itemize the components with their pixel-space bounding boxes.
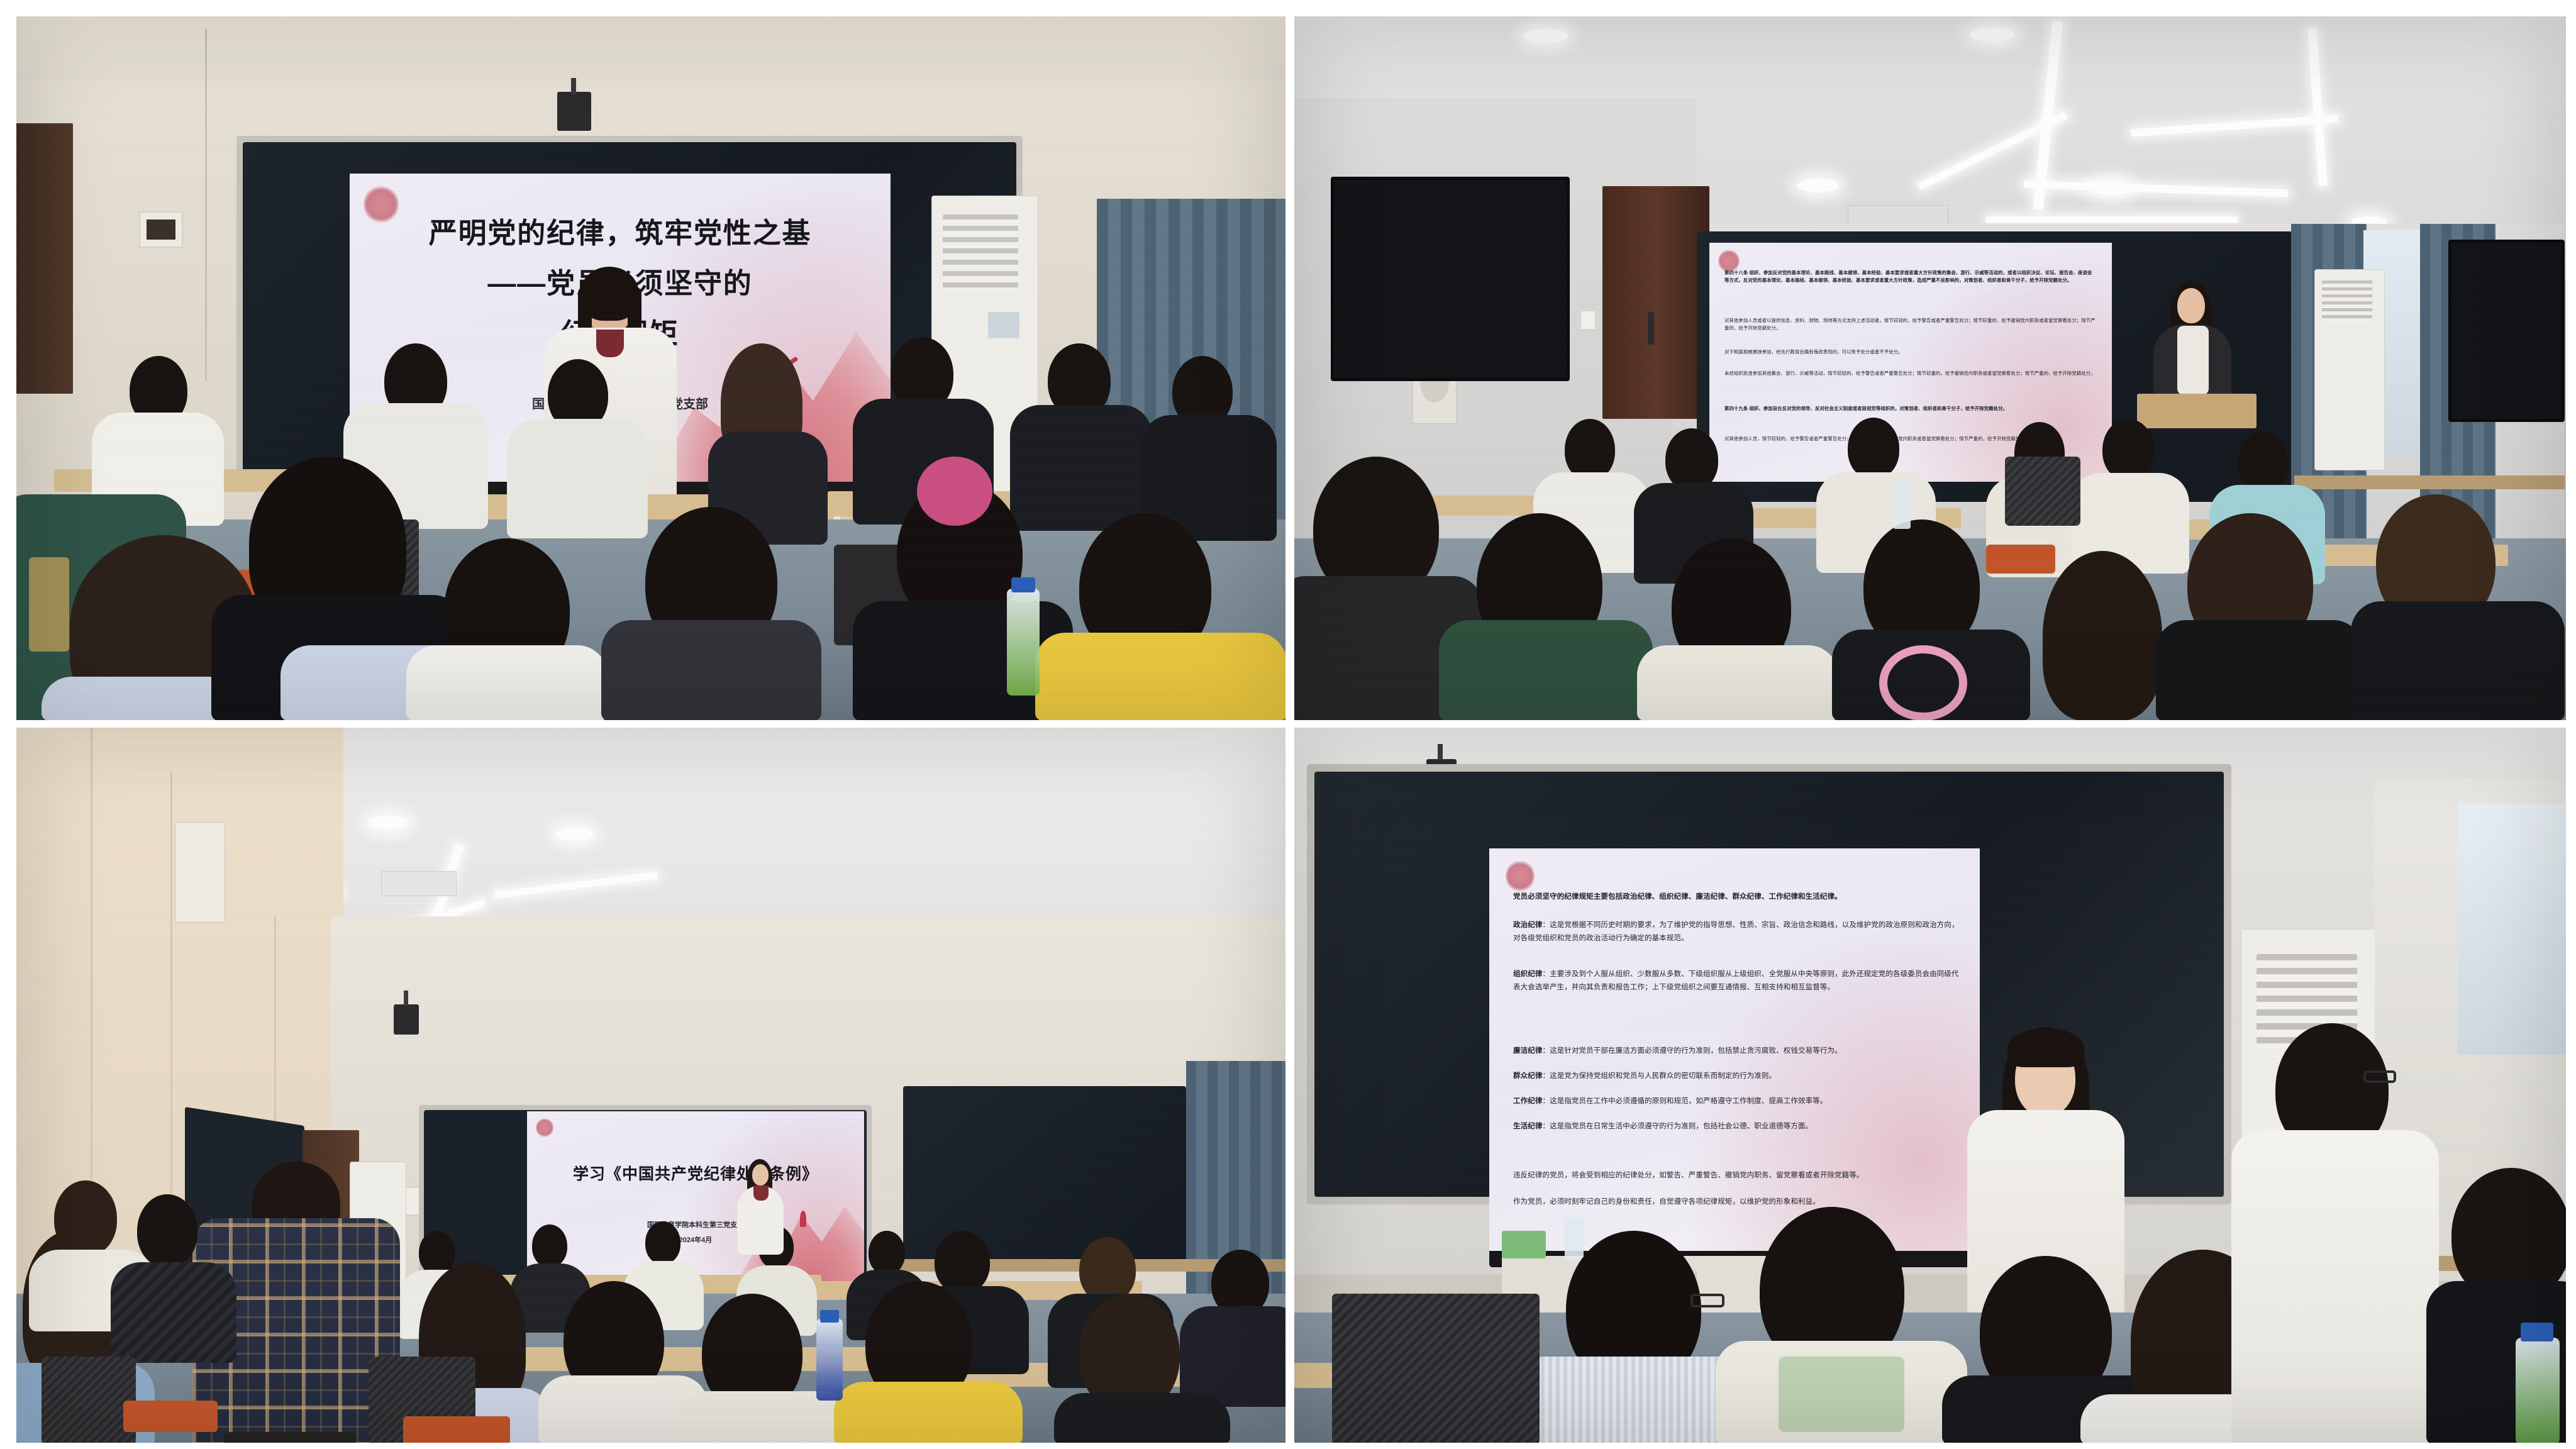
downlight xyxy=(1797,179,1839,192)
bottle-cap xyxy=(1011,577,1035,592)
side-monitor xyxy=(1331,177,1570,381)
projector-mount xyxy=(571,78,576,94)
ac-label xyxy=(988,312,1019,338)
smiley-print-icon xyxy=(1879,645,1967,720)
student-head xyxy=(2102,419,2154,480)
slide-paragraph-2: 对于明真相被裹挟参加，经先行教育后确有悔改表现的，可以免予处分或者不予处分。 xyxy=(1724,348,2096,356)
slide-item-text: 这是指党员在工作中必须遵循的原则和规范，如严格遵守工作制度、提高工作效率等。 xyxy=(1550,1097,1827,1105)
ceiling-vent xyxy=(381,871,457,896)
slide-item-text: 主要涉及到个人服从组织、少数服从多数、下级组织服从上级组织、全党服从中央等原则，… xyxy=(1513,970,1959,991)
student-head xyxy=(1848,418,1899,479)
presenter-inner-top xyxy=(2177,326,2209,395)
wall-seam xyxy=(205,29,207,381)
student-torso xyxy=(1637,645,1838,720)
slide-date: 2024年4月 xyxy=(527,1235,864,1245)
slide-org: 国际教育学院本科生第三党支部 xyxy=(527,1219,864,1230)
downlight xyxy=(2090,181,2131,195)
slide-item-1: 组织纪律：主要涉及到个人服从组织、少数服从多数、下级组织服从上级组织、全党服从中… xyxy=(1513,968,1960,995)
chair xyxy=(42,1357,136,1443)
student-torso xyxy=(1035,633,1285,720)
slide-item-label: 组织纪律 xyxy=(1513,970,1542,978)
door-handle-icon xyxy=(1648,312,1654,345)
downlight xyxy=(369,816,409,830)
slide-item-label: 生活纪律 xyxy=(1513,1123,1542,1130)
student-torso xyxy=(601,620,821,720)
student-head xyxy=(869,1231,905,1275)
slide-title: 学习《中国共产党纪律处分条例》 xyxy=(527,1162,864,1184)
side-monitor xyxy=(2448,240,2565,422)
collage-panel-bottom-left: 学习《中国共产党纪律处分条例》 国际教育学院本科生第三党支部 2024年4月 xyxy=(16,728,1285,1443)
water-bottle xyxy=(1007,589,1040,696)
student-head xyxy=(137,1194,197,1267)
slide-item-label: 政治纪律 xyxy=(1513,921,1542,929)
student-torso xyxy=(1010,405,1152,531)
slide-paragraph-3: 未经组织批准参加其他集会、游行、示威等活动，情节较轻的，给予警告或者严重警告处分… xyxy=(1724,370,2096,377)
presenter-head xyxy=(752,1164,769,1185)
ac-vents xyxy=(2322,280,2372,322)
door xyxy=(16,123,73,394)
water-bottle xyxy=(1565,1217,1584,1261)
party-seal-icon xyxy=(1506,860,1535,892)
student-torso xyxy=(1439,620,1653,720)
projector xyxy=(394,1004,419,1035)
podium xyxy=(2137,394,2257,428)
standing-student-torso xyxy=(2231,1130,2439,1443)
chair-seat xyxy=(123,1401,218,1432)
chair xyxy=(2005,457,2080,526)
slide-item-label: 群众纪律 xyxy=(1513,1072,1542,1080)
bottle-cap xyxy=(820,1310,839,1323)
graphic-print xyxy=(917,457,992,526)
collage-panel-bottom-right: 党员必须坚守的纪律规矩主要包括政治纪律、组织纪律、廉洁纪律、群众纪律、工作纪律和… xyxy=(1294,728,2566,1443)
projector-mount xyxy=(404,991,408,1006)
wall-speaker xyxy=(175,822,225,923)
window xyxy=(2458,803,2566,1055)
student-torso xyxy=(2156,620,2363,720)
student-torso xyxy=(507,419,648,538)
chair-seat xyxy=(403,1416,510,1443)
presenter-head xyxy=(2177,288,2205,323)
slide-item-text: 这是针对党员干部在廉洁方面必须遵守的行为准则，包括禁止贪污腐败、权钱交易等行为。 xyxy=(1550,1047,1842,1055)
slide-item-3: 群众纪律：这是党为保持党组织和党员与人民群众的密切联系而制定的行为准则。 xyxy=(1513,1070,1960,1083)
student-torso xyxy=(2351,601,2565,720)
slide-item-2: 廉洁纪律：这是针对党员干部在廉洁方面必须遵守的行为准则，包括禁止贪污腐败、权钱交… xyxy=(1513,1045,1960,1058)
slide-footer-1: 违反纪律的党员，将会受到相应的纪律处分，如警告、严重警告、撤销党内职务、留党察看… xyxy=(1513,1169,1960,1182)
presenter-inner-shirt xyxy=(596,330,624,357)
led-strip xyxy=(1986,216,2238,223)
slide-item-5: 生活纪律：这是指党员在日常生活中必须遵守的行为准则，包括社会公德、职业道德等方面… xyxy=(1513,1120,1960,1133)
projection-slide: 学习《中国共产党纪律处分条例》 国际教育学院本科生第三党支部 2024年4月 xyxy=(527,1111,864,1281)
chair xyxy=(1332,1294,1540,1443)
presenter-hair-front xyxy=(2007,1028,2084,1067)
student-head xyxy=(1565,419,1615,480)
student-torso xyxy=(1054,1393,1230,1443)
slide-item-text: 这是党为保持党组织和党员与人民群众的密切联系而制定的行为准则。 xyxy=(1550,1072,1776,1080)
collage-panel-top-left: 严明党的纪律，筑牢党性之基 ——党员必须坚守的 纪律规矩 国际教育学院本科生第三… xyxy=(16,16,1285,720)
student-head xyxy=(1079,1237,1136,1302)
wall-seam xyxy=(170,772,172,1224)
slide-item-text: 这是党根据不同历史时期的要求，为了维护党的指导思想、性质、宗旨、政治信念和路线，… xyxy=(1513,921,1959,942)
slide-item-4: 工作纪律：这是指党员在工作中必须遵循的原则和规范，如严格遵守工作制度、提高工作效… xyxy=(1513,1095,1960,1108)
slide-heading-2: 第四十九条 组织、参加旨在反对党的领导、反对社会主义制度或者敌视党等组织的，对策… xyxy=(1724,405,2096,413)
projector xyxy=(557,92,591,131)
projection-slide: 党员必须坚守的纪律规矩主要包括政治纪律、组织纪律、廉洁纪律、群众纪律、工作纪律和… xyxy=(1489,848,1980,1251)
slide-heading: 党员必须坚守的纪律规矩主要包括政治纪律、组织纪律、廉洁纪律、群众纪律、工作纪律和… xyxy=(1513,891,1960,904)
slide-item-0: 政治纪律：这是党根据不同历史时期的要求，为了维护党的指导思想、性质、宗旨、政治信… xyxy=(1513,919,1960,946)
student-head xyxy=(2238,431,2288,492)
water-bottle xyxy=(1893,479,1911,529)
light-switch xyxy=(1580,311,1596,330)
slide-footer-2: 作为党员，必须时刻牢记自己的身份和责任，自觉遵守各项纪律规矩，以维护党的形象和利… xyxy=(1513,1196,1960,1209)
slide-item-text: 这是指党员在日常生活中必须遵守的行为准则，包括社会公德、职业道德等方面。 xyxy=(1550,1123,1813,1130)
student-head xyxy=(645,1221,680,1264)
downlight xyxy=(556,828,594,841)
student-torso xyxy=(1180,1306,1285,1407)
student-head xyxy=(935,1231,990,1294)
glasses-icon xyxy=(2363,1070,2396,1083)
party-seal-icon xyxy=(536,1118,553,1138)
shirt-print xyxy=(1779,1357,1904,1432)
presenter-inner-shirt xyxy=(753,1185,769,1201)
projector-mount xyxy=(1438,744,1443,760)
wall-outlet-inner xyxy=(147,219,175,240)
student-head xyxy=(54,1180,117,1256)
water-bottle xyxy=(2516,1338,2560,1443)
downlight xyxy=(1970,28,2014,42)
downlight xyxy=(1524,29,1568,43)
window-sill xyxy=(2294,475,2565,489)
student-torso xyxy=(834,1382,1023,1443)
water-bottle xyxy=(816,1319,843,1401)
standing-person-trousers xyxy=(224,1432,356,1443)
student-head xyxy=(532,1224,567,1267)
slide-item-label: 廉洁纪律 xyxy=(1513,1047,1542,1055)
photo-collage: 严明党的纪律，筑牢党性之基 ——党员必须坚守的 纪律规矩 国际教育学院本科生第三… xyxy=(16,16,2566,1443)
student-torso xyxy=(111,1262,236,1363)
tissue-box xyxy=(1502,1231,1546,1258)
slide-paragraph-1: 对其他参加人员或者以提供信息、资料、财物、场地等方式支持上述活动者，情节较轻的，… xyxy=(1724,317,2096,332)
student-hair-long xyxy=(2043,551,2162,720)
student-head xyxy=(1665,428,1718,491)
ac-vents xyxy=(943,214,1018,290)
collage-panel-top-right: 第四十八条 组织、参加反对党的基本理论、基本路线、基本纲领、基本经验、基本要求或… xyxy=(1294,16,2566,720)
student-torso xyxy=(406,645,608,720)
wall-seam xyxy=(91,728,92,1206)
slide-heading-1: 第四十八条 组织、参加反对党的基本理论、基本路线、基本纲领、基本经验、基本要求或… xyxy=(1724,269,2096,284)
chair-seat xyxy=(1986,545,2055,574)
glasses-icon xyxy=(1690,1294,1724,1307)
slide-title-line1: 严明党的纪律，筑牢党性之基 xyxy=(350,210,891,251)
bottle-cap xyxy=(2521,1323,2553,1341)
slide-item-label: 工作纪律 xyxy=(1513,1097,1542,1105)
door xyxy=(1602,186,1709,419)
jersey-number xyxy=(29,557,69,652)
